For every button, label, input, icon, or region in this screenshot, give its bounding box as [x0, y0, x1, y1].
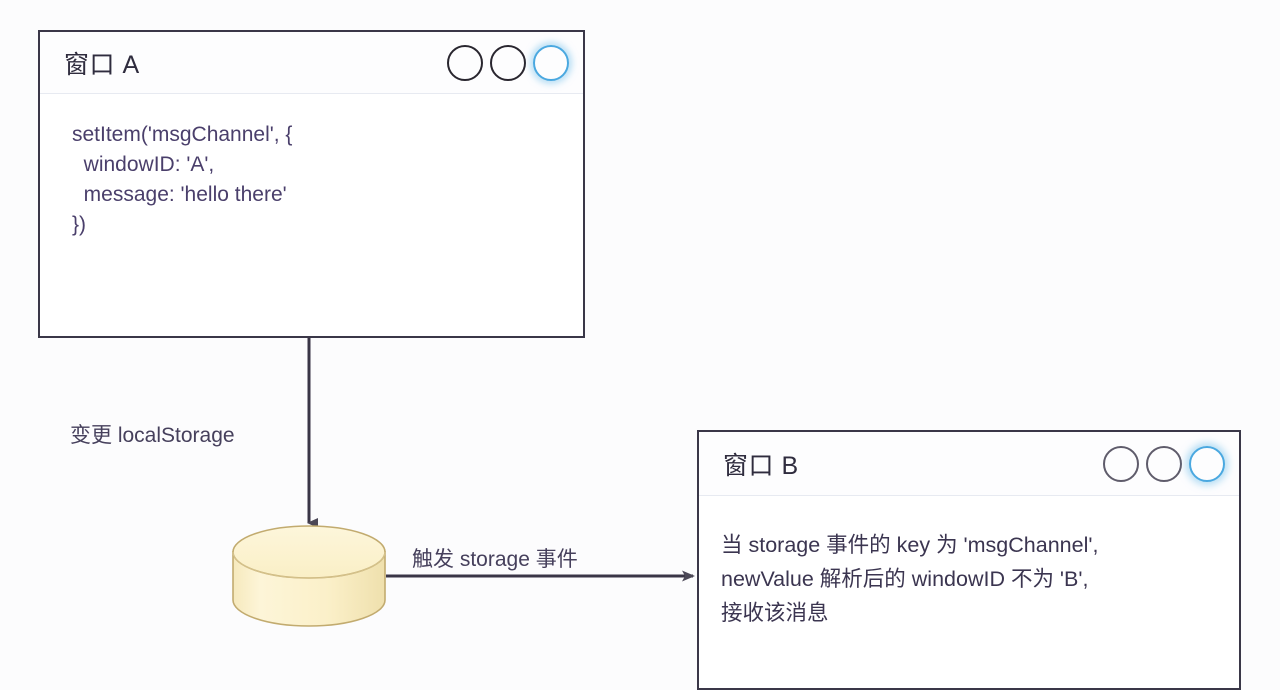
minimize-dot[interactable] — [1103, 446, 1139, 482]
minimize-dot[interactable] — [447, 45, 483, 81]
close-dot[interactable] — [533, 45, 569, 81]
diagram-canvas: 窗口 A setItem('msgChannel', { windowID: '… — [0, 0, 1280, 656]
storage-cylinder-icon — [233, 526, 385, 626]
maximize-dot[interactable] — [490, 45, 526, 81]
window-b-title: 窗口 B — [723, 446, 799, 482]
window-a[interactable]: 窗口 A setItem('msgChannel', { windowID: '… — [38, 30, 585, 338]
edge-label-trigger-storage-event: 触发 storage 事件 — [412, 543, 578, 573]
window-a-code-block: setItem('msgChannel', { windowID: 'A', m… — [72, 120, 559, 240]
close-dot[interactable] — [1189, 446, 1225, 482]
window-b-content: 当 storage 事件的 key 为 'msgChannel', newVal… — [699, 496, 1239, 630]
maximize-dot[interactable] — [1146, 446, 1182, 482]
window-a-title: 窗口 A — [64, 45, 140, 81]
window-a-traffic-lights — [447, 45, 569, 81]
edge-label-change-localstorage: 变更 localStorage — [70, 419, 235, 449]
window-b-traffic-lights — [1103, 446, 1225, 482]
window-b-titlebar[interactable]: 窗口 B — [699, 432, 1239, 496]
window-b[interactable]: 窗口 B 当 storage 事件的 key 为 'msgChannel', n… — [697, 430, 1241, 690]
window-a-titlebar[interactable]: 窗口 A — [40, 32, 583, 94]
window-b-description: 当 storage 事件的 key 为 'msgChannel', newVal… — [721, 528, 1219, 630]
window-a-content: setItem('msgChannel', { windowID: 'A', m… — [40, 94, 583, 240]
